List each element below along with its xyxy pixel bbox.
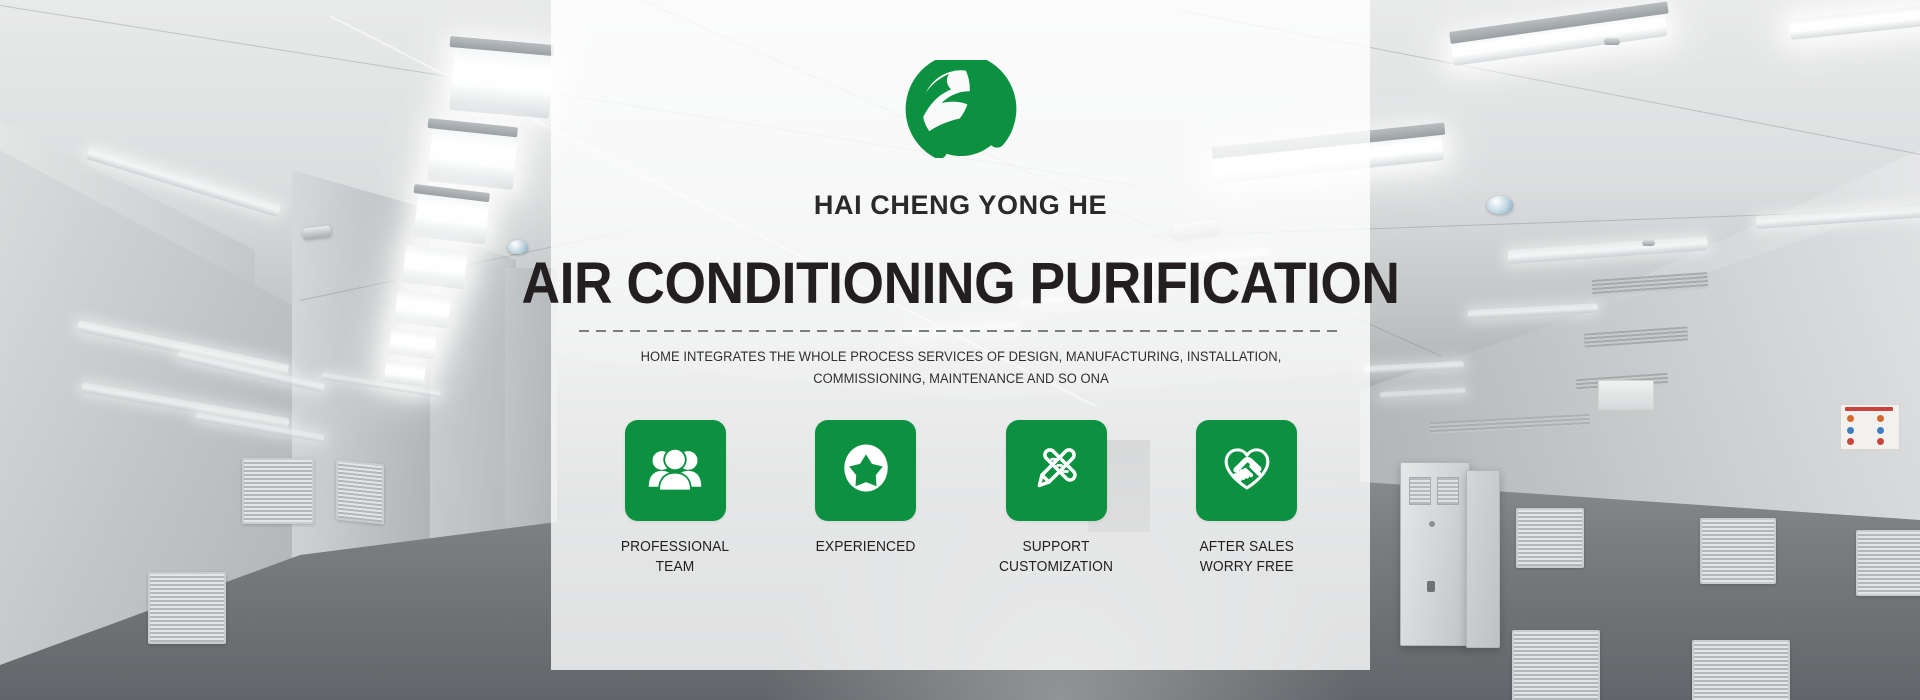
sign-dot [1847,438,1854,445]
wall-air-vent [148,572,226,644]
feature-label: PROFESSIONAL TEAM [621,538,729,577]
cabinet-handle [1427,581,1435,592]
cabinet-lock [1429,521,1435,527]
feature-label-line-2: CUSTOMIZATION [999,558,1113,578]
feature-item-support-customization[interactable]: SUPPORT CUSTOMIZATION [972,420,1140,577]
feature-item-professional-team[interactable]: PROFESSIONAL TEAM [591,420,759,577]
sprinkler-head [1642,240,1655,246]
feature-label-line-1: PROFESSIONAL [621,538,729,558]
wall-air-vent [242,458,314,524]
feature-icon-box [625,420,726,521]
feature-item-after-sales[interactable]: AFTER SALES WORRY FREE [1163,420,1331,577]
light-fixture [402,244,468,289]
feature-icon-box [1196,420,1297,521]
green-swirl-leaf-logo-icon [900,60,1022,158]
sign-dot [1847,415,1854,422]
wall-air-vent [336,459,384,524]
feature-label-line-1: SUPPORT [999,538,1113,558]
star-badge-icon [837,439,895,502]
sign-title-bar [1845,407,1893,411]
wall-air-vent [1856,530,1920,596]
light-fixture [394,290,451,328]
feature-list: PROFESSIONAL TEAM EXPERIENCED [591,420,1331,577]
cabinet-vent [1437,477,1459,505]
emergency-light [1598,380,1654,410]
sign-dot [1877,427,1884,434]
feature-label-line-2: WORRY FREE [1200,558,1294,578]
feature-label: AFTER SALES WORRY FREE [1200,538,1294,577]
wall-air-vent [1700,518,1776,584]
logo-container[interactable] [551,60,1370,163]
electrical-cabinet-side [1466,470,1500,648]
feature-item-experienced[interactable]: EXPERIENCED [782,420,950,558]
wall-air-vent [1516,508,1584,568]
sprinkler-head [1604,38,1620,45]
sign-dot [1877,438,1884,445]
hero-banner: HAI CHENG YONG HE AIR CONDITIONING PURIF… [0,0,1920,700]
brand-name: HAI CHENG YONG HE [551,190,1370,221]
subtitle-line-2: MAINTENANCE AND SO ONA [929,371,1109,386]
feature-label-line-1: EXPERIENCED [816,538,916,558]
sign-dot [1877,415,1884,422]
wall-safety-sign [1840,404,1900,450]
feature-icon-box [815,420,916,521]
light-fixture [449,44,554,118]
feature-icon-box [1006,420,1107,521]
feature-label-line-1: AFTER SALES [1200,538,1294,558]
feature-label: SUPPORT CUSTOMIZATION [999,538,1113,577]
light-fixture [388,328,437,359]
floor-air-vent [1512,630,1600,700]
feature-label: EXPERIENCED [816,538,916,558]
floor-air-vent [1692,640,1790,700]
pencil-ruler-icon [1028,440,1084,501]
people-group-icon [645,438,705,503]
hero-content: HAI CHENG YONG HE AIR CONDITIONING PURIF… [551,0,1370,670]
feature-label-line-2: TEAM [621,558,729,578]
dashed-divider [579,330,1342,332]
electrical-cabinet [1400,462,1470,646]
ceiling-dome-light [1487,196,1513,214]
page-title: AIR CONDITIONING PURIFICATION [501,255,1420,313]
cabinet-vent [1409,477,1431,505]
sign-dot [1847,427,1854,434]
subtitle: HOME INTEGRATES THE WHOLE PROCESS SERVIC… [606,346,1316,390]
handshake-heart-icon [1218,439,1276,502]
